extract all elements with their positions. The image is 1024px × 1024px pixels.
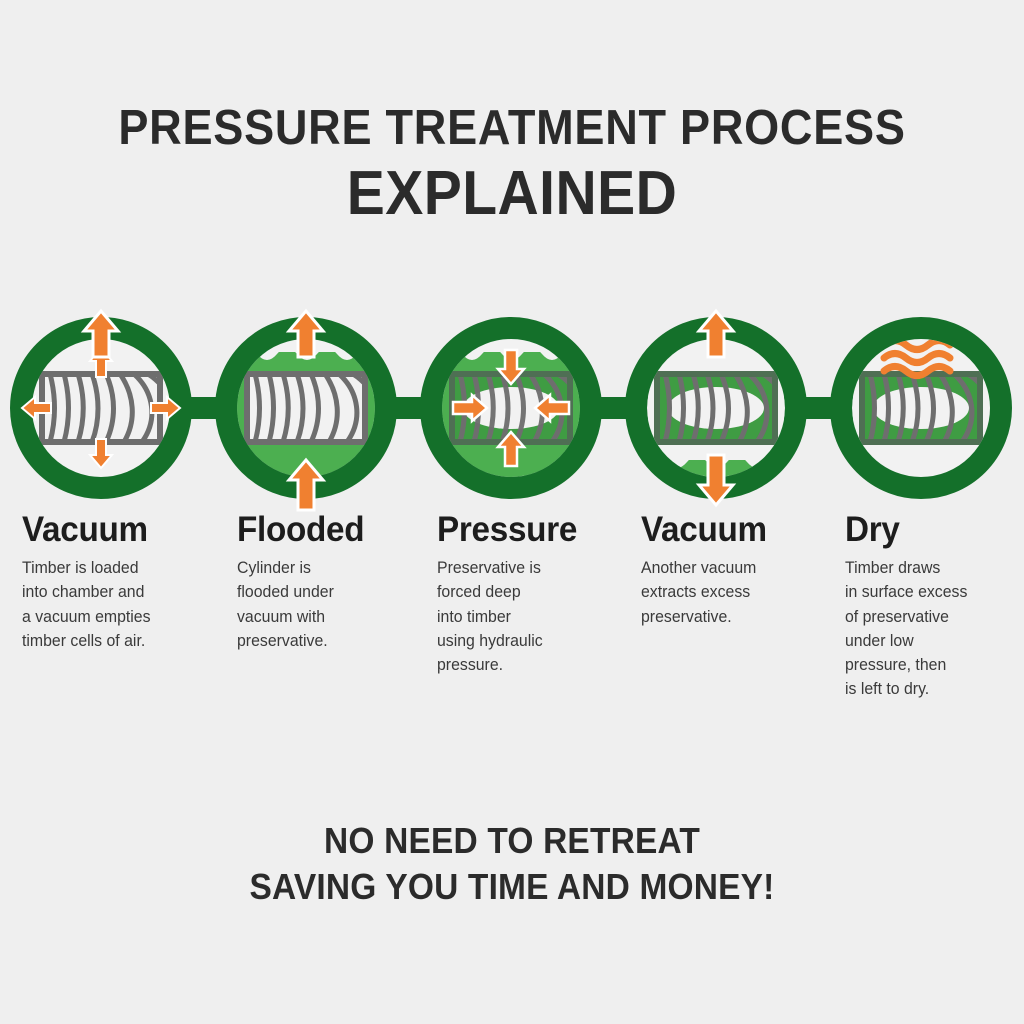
step-3: Pressure Preservative is forced deep int… [437, 512, 627, 677]
process-step-icon-5-dry [841, 328, 1001, 488]
step-5-desc-line-2: in surface excess [845, 580, 1024, 604]
step-1-desc-line-1: Timber is loaded [22, 556, 214, 580]
step-2-description: Cylinder is flooded under vacuum with pr… [237, 556, 419, 653]
step-3-desc-line-2: forced deep [437, 580, 619, 604]
step-4-title: Vacuum [641, 512, 831, 547]
step-5-desc-line-3: of preservative [845, 605, 1024, 629]
step-1-title: Vacuum [22, 512, 212, 547]
step-5: Dry Timber draws in surface excess of pr… [845, 512, 1024, 702]
step-3-desc-line-4: using hydraulic [437, 629, 619, 653]
step-4-desc-line-1: Another vacuum [641, 556, 833, 580]
step-3-title: Pressure [437, 512, 618, 547]
process-step-icon-3-pressure [431, 328, 602, 488]
tagline-line-2: SAVING YOU TIME AND MONEY! [36, 864, 988, 910]
step-5-title: Dry [845, 512, 1024, 547]
tagline: NO NEED TO RETREAT SAVING YOU TIME AND M… [0, 818, 1024, 910]
step-5-desc-line-4: under low [845, 629, 1024, 653]
step-4-desc-line-3: preservative. [641, 605, 833, 629]
step-1: Vacuum Timber is loaded into chamber and… [22, 512, 222, 653]
title-line-2: EXPLAINED [41, 159, 983, 228]
tagline-line-1: NO NEED TO RETREAT [36, 818, 988, 864]
step-3-desc-line-1: Preservative is [437, 556, 619, 580]
step-2-desc-line-3: vacuum with [237, 605, 419, 629]
step-1-desc-line-2: into chamber and [22, 580, 214, 604]
process-step-icon-2-flooded [226, 311, 397, 510]
process-step-descriptions: Vacuum Timber is loaded into chamber and… [0, 512, 1024, 712]
step-5-desc-line-1: Timber draws [845, 556, 1024, 580]
step-1-desc-line-3: a vacuum empties [22, 605, 214, 629]
timber-block-treated-4 [657, 374, 786, 442]
step-5-desc-line-6: is left to dry. [845, 677, 1024, 701]
step-4-description: Another vacuum extracts excess preservat… [641, 556, 833, 629]
step-5-desc-line-5: pressure, then [845, 653, 1024, 677]
step-5-description: Timber draws in surface excess of preser… [845, 556, 1024, 702]
step-3-desc-line-3: into timber [437, 605, 619, 629]
step-4-desc-line-2: extracts excess [641, 580, 833, 604]
step-2-desc-line-1: Cylinder is [237, 556, 419, 580]
step-2-desc-line-2: flooded under [237, 580, 419, 604]
step-2-desc-line-4: preservative. [237, 629, 419, 653]
step-3-desc-line-5: pressure. [437, 653, 619, 677]
step-2: Flooded Cylinder is flooded under vacuum… [237, 512, 427, 653]
infographic-canvas: PRESSURE TREATMENT PROCESS EXPLAINED [0, 0, 1024, 1024]
step-2-title: Flooded [237, 512, 418, 547]
process-step-icon-1-vacuum [21, 311, 181, 488]
step-4: Vacuum Another vacuum extracts excess pr… [641, 512, 841, 629]
step-1-desc-line-4: timber cells of air. [22, 629, 214, 653]
timber-block-treated-5 [862, 374, 991, 442]
step-3-description: Preservative is forced deep into timber … [437, 556, 619, 677]
timber-block-untreated-2 [247, 374, 376, 442]
process-diagram [0, 300, 1024, 515]
step-1-description: Timber is loaded into chamber and a vacu… [22, 556, 214, 653]
process-step-icon-4-vacuum [636, 311, 807, 505]
title-line-1: PRESSURE TREATMENT PROCESS [41, 104, 983, 153]
page-title: PRESSURE TREATMENT PROCESS EXPLAINED [0, 104, 1024, 228]
